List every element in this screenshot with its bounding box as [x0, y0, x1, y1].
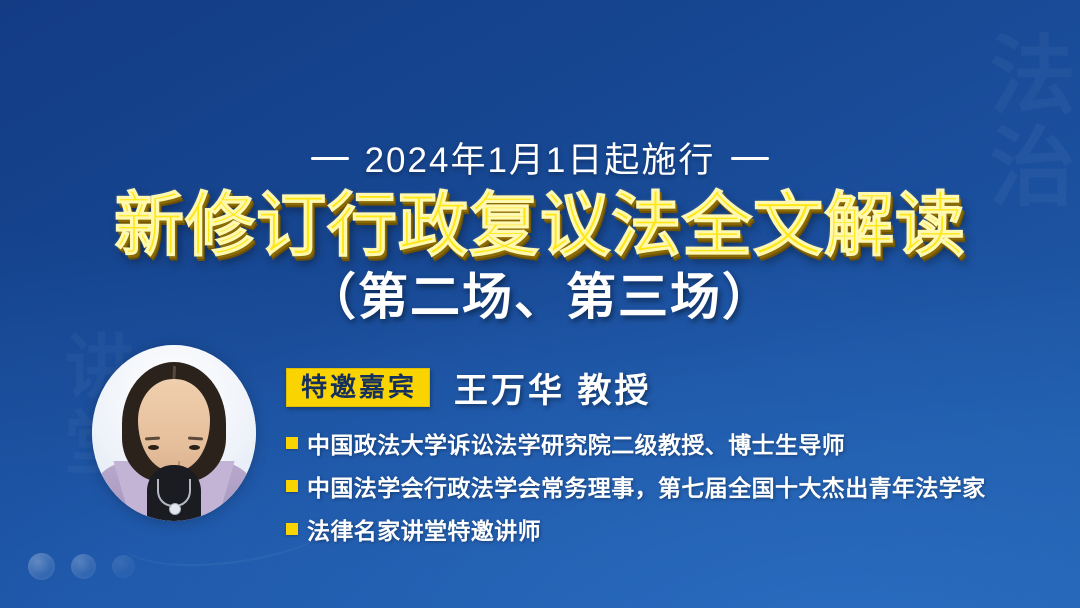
credential-item: 中国法学会行政法学会常务理事，第七届全国十大杰出青年法学家: [286, 469, 986, 503]
avatar-brow-left: [145, 436, 160, 440]
credential-text: 中国法学会行政法学会常务理事，第七届全国十大杰出青年法学家: [307, 469, 986, 503]
bubble-icon-3: [112, 555, 135, 578]
speaker-avatar: [92, 345, 256, 521]
bullet-square-icon: [286, 480, 298, 492]
credential-item: 法律名家讲堂特邀讲师: [286, 512, 986, 546]
speaker-credentials: 中国政法大学诉讼法学研究院二级教授、博士生导师 中国法学会行政法学会常务理事，第…: [286, 426, 986, 546]
dash-right-icon: [731, 157, 769, 160]
credential-item: 中国政法大学诉讼法学研究院二级教授、博士生导师: [286, 426, 986, 460]
speaker-name-row: 特邀嘉宾 王万华 教授: [286, 363, 986, 412]
poster-canvas: 法治 讲堂 2024年1月1日起施行 新修订行政复议法全文解读 （第二场、第三场…: [0, 0, 1080, 608]
bullet-square-icon: [286, 437, 298, 449]
bubble-icon-2: [71, 554, 96, 579]
speaker-name: 王万华 教授: [454, 363, 651, 412]
credential-text: 法律名家讲堂特邀讲师: [307, 512, 541, 546]
page-subtitle: （第二场、第三场）: [0, 272, 1080, 322]
credential-text: 中国政法大学诉讼法学研究院二级教授、博士生导师: [307, 426, 845, 460]
bubble-icon-1: [28, 553, 55, 580]
effective-date-text: 2024年1月1日起施行: [365, 141, 716, 180]
avatar-eye-right: [189, 445, 200, 450]
dash-left-icon: [311, 157, 349, 160]
avatar-pendant: [169, 503, 181, 515]
speaker-block: 特邀嘉宾 王万华 教授 中国政法大学诉讼法学研究院二级教授、博士生导师 中国法学…: [92, 345, 986, 555]
page-title: 新修订行政复议法全文解读: [0, 190, 1080, 260]
speaker-info: 特邀嘉宾 王万华 教授 中国政法大学诉讼法学研究院二级教授、博士生导师 中国法学…: [286, 345, 986, 555]
decorative-bubbles: [28, 553, 135, 580]
avatar-brow-right: [188, 436, 203, 440]
avatar-face: [138, 379, 210, 471]
effective-date-line: 2024年1月1日起施行: [0, 132, 1080, 183]
avatar-eye-left: [148, 445, 159, 450]
guest-badge: 特邀嘉宾: [286, 368, 430, 407]
bullet-square-icon: [286, 523, 298, 535]
